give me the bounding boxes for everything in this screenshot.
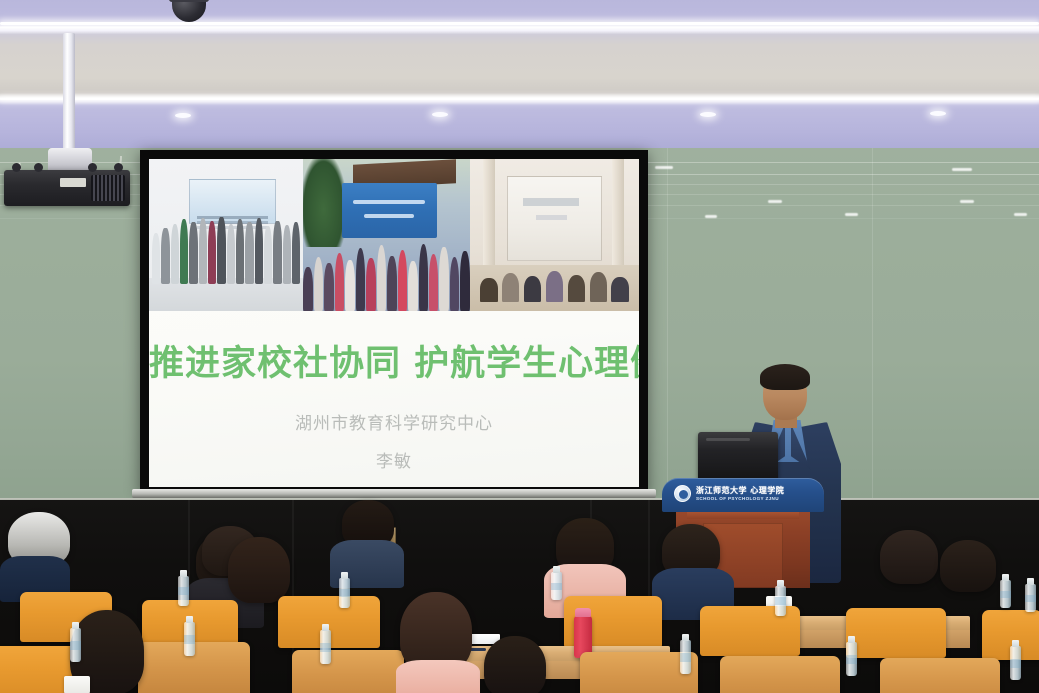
slide-photo-group-photo-indoor bbox=[149, 159, 303, 311]
audience-chair bbox=[720, 656, 840, 693]
ceiling-downlight bbox=[432, 112, 448, 117]
ceiling bbox=[0, 0, 1039, 150]
projection-screen: 推进家校社协同 护航学生心理健康 湖州市教育科学研究中心 李敏 bbox=[140, 150, 648, 496]
ceiling-projector bbox=[4, 170, 130, 206]
paper-cup bbox=[64, 676, 90, 693]
lecture-hall-scene: 推进家校社协同 护航学生心理健康 湖州市教育科学研究中心 李敏 浙江师范大学 心… bbox=[0, 0, 1039, 693]
water-bottle bbox=[339, 578, 350, 608]
audience-chair bbox=[292, 650, 404, 693]
slide-photo-conference-hall-panel bbox=[470, 159, 639, 311]
water-bottle bbox=[846, 642, 857, 676]
water-bottle bbox=[1010, 646, 1021, 680]
audience-head bbox=[880, 530, 938, 584]
audience-body bbox=[396, 660, 480, 693]
water-bottle bbox=[70, 628, 81, 662]
audience-head bbox=[940, 540, 996, 592]
ceiling-downlight bbox=[930, 111, 946, 116]
ceiling-downlight bbox=[175, 113, 191, 118]
water-bottle bbox=[1000, 580, 1011, 608]
audience-area bbox=[0, 500, 1039, 693]
ceiling-downlight bbox=[700, 112, 716, 117]
water-bottle bbox=[680, 640, 691, 674]
slide-photo-outdoor-assembly-led-screen bbox=[303, 159, 470, 311]
podium-monitor bbox=[698, 432, 778, 482]
projector-label bbox=[60, 178, 86, 187]
water-bottle bbox=[1025, 584, 1036, 612]
presentation-slide: 推进家校社协同 护航学生心理健康 湖州市教育科学研究中心 李敏 bbox=[149, 159, 639, 487]
water-bottle bbox=[775, 586, 786, 616]
slide-subtitle-presenter-name: 李敏 bbox=[149, 447, 639, 472]
podium-name-cn: 浙江师范大学 心理学院 bbox=[696, 485, 784, 496]
water-bottle bbox=[320, 630, 331, 664]
audience-chair bbox=[880, 658, 1000, 693]
slide-title: 推进家校社协同 护航学生心理健康 bbox=[149, 335, 639, 386]
projector-vent bbox=[91, 175, 125, 201]
projection-screen-roller-bar bbox=[132, 489, 656, 498]
dome-camera-icon bbox=[172, 0, 206, 22]
slide-photo-strip bbox=[149, 159, 639, 311]
audience-head bbox=[484, 636, 546, 693]
presenter-hair bbox=[760, 364, 810, 390]
water-bottle bbox=[551, 572, 562, 600]
audience-chair bbox=[846, 608, 946, 658]
water-bottle bbox=[184, 622, 195, 656]
audience-head bbox=[228, 537, 290, 603]
ceiling-light-strip bbox=[0, 22, 1039, 25]
slide-subtitle-organization: 湖州市教育科学研究中心 bbox=[149, 409, 639, 434]
ceiling-light-strip-lower bbox=[0, 98, 1039, 100]
water-bottle bbox=[178, 576, 189, 606]
